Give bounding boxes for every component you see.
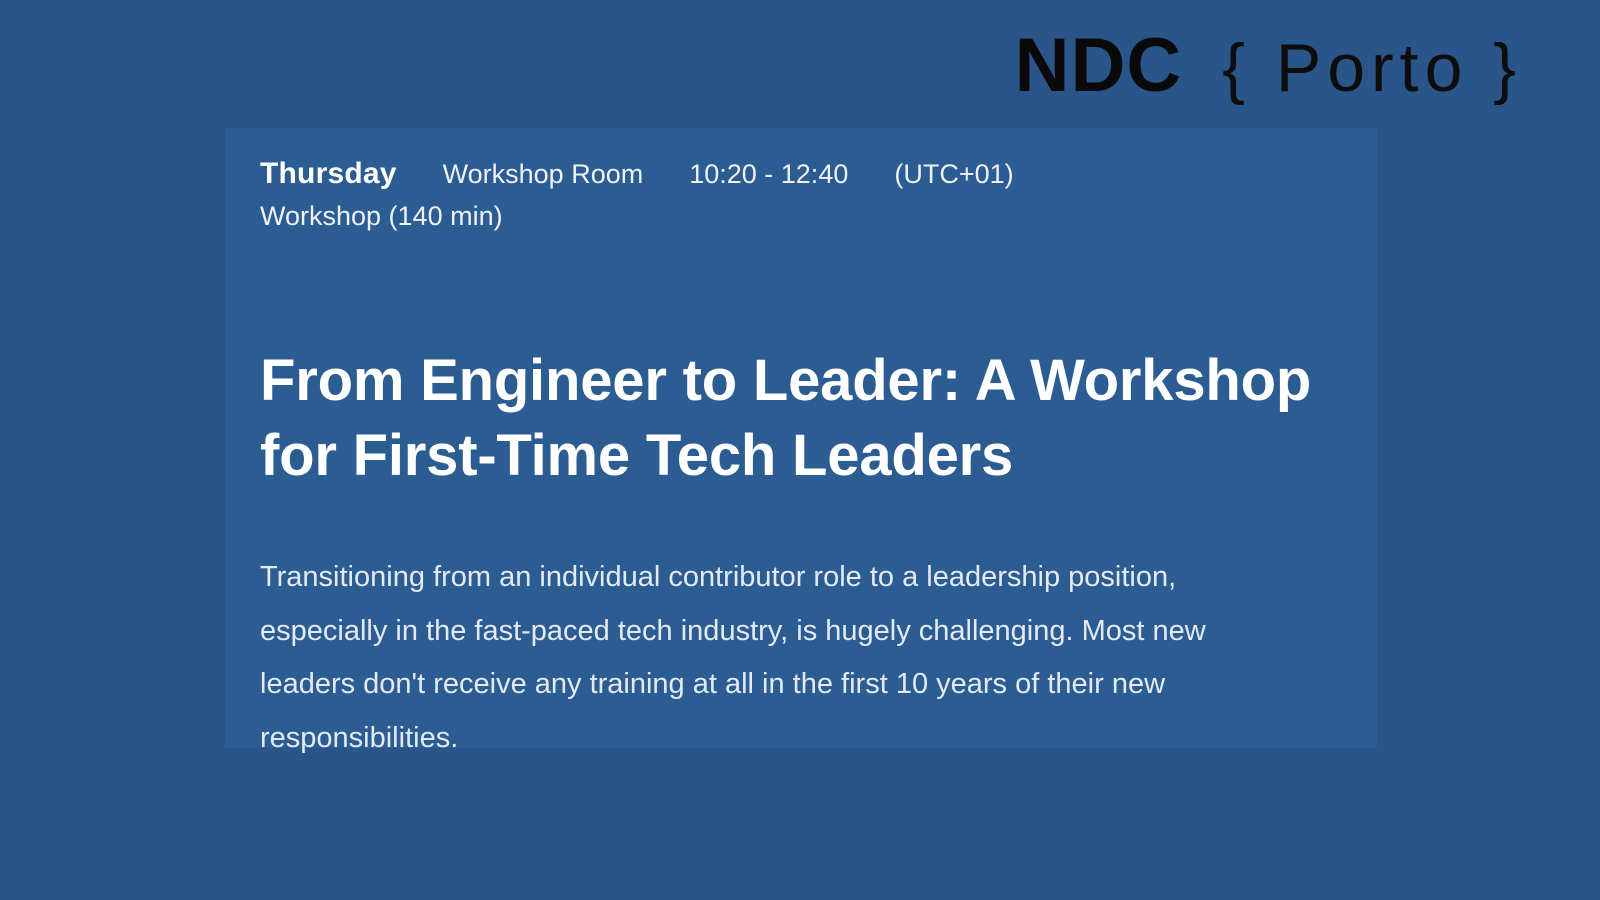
session-day: Thursday — [260, 155, 397, 193]
session-description: Transitioning from an individual contrib… — [260, 551, 1305, 766]
session-room: Workshop Room — [443, 158, 644, 192]
ndc-porto-logo: NDC { Porto } — [1015, 28, 1522, 104]
session-timezone: (UTC+01) — [894, 158, 1013, 192]
session-time: 10:20 - 12:40 — [689, 158, 848, 192]
session-title: From Engineer to Leader: A Workshop for … — [260, 344, 1350, 494]
session-meta-row: Thursday Workshop Room 10:20 - 12:40 (UT… — [260, 155, 1360, 193]
logo-city-text: { Porto } — [1222, 34, 1522, 102]
session-slide: NDC { Porto } Thursday Workshop Room 10:… — [0, 0, 1600, 900]
session-meta: Thursday Workshop Room 10:20 - 12:40 (UT… — [260, 155, 1360, 232]
logo-ndc-text: NDC — [1015, 28, 1183, 104]
session-format: Workshop (140 min) — [260, 201, 1360, 232]
